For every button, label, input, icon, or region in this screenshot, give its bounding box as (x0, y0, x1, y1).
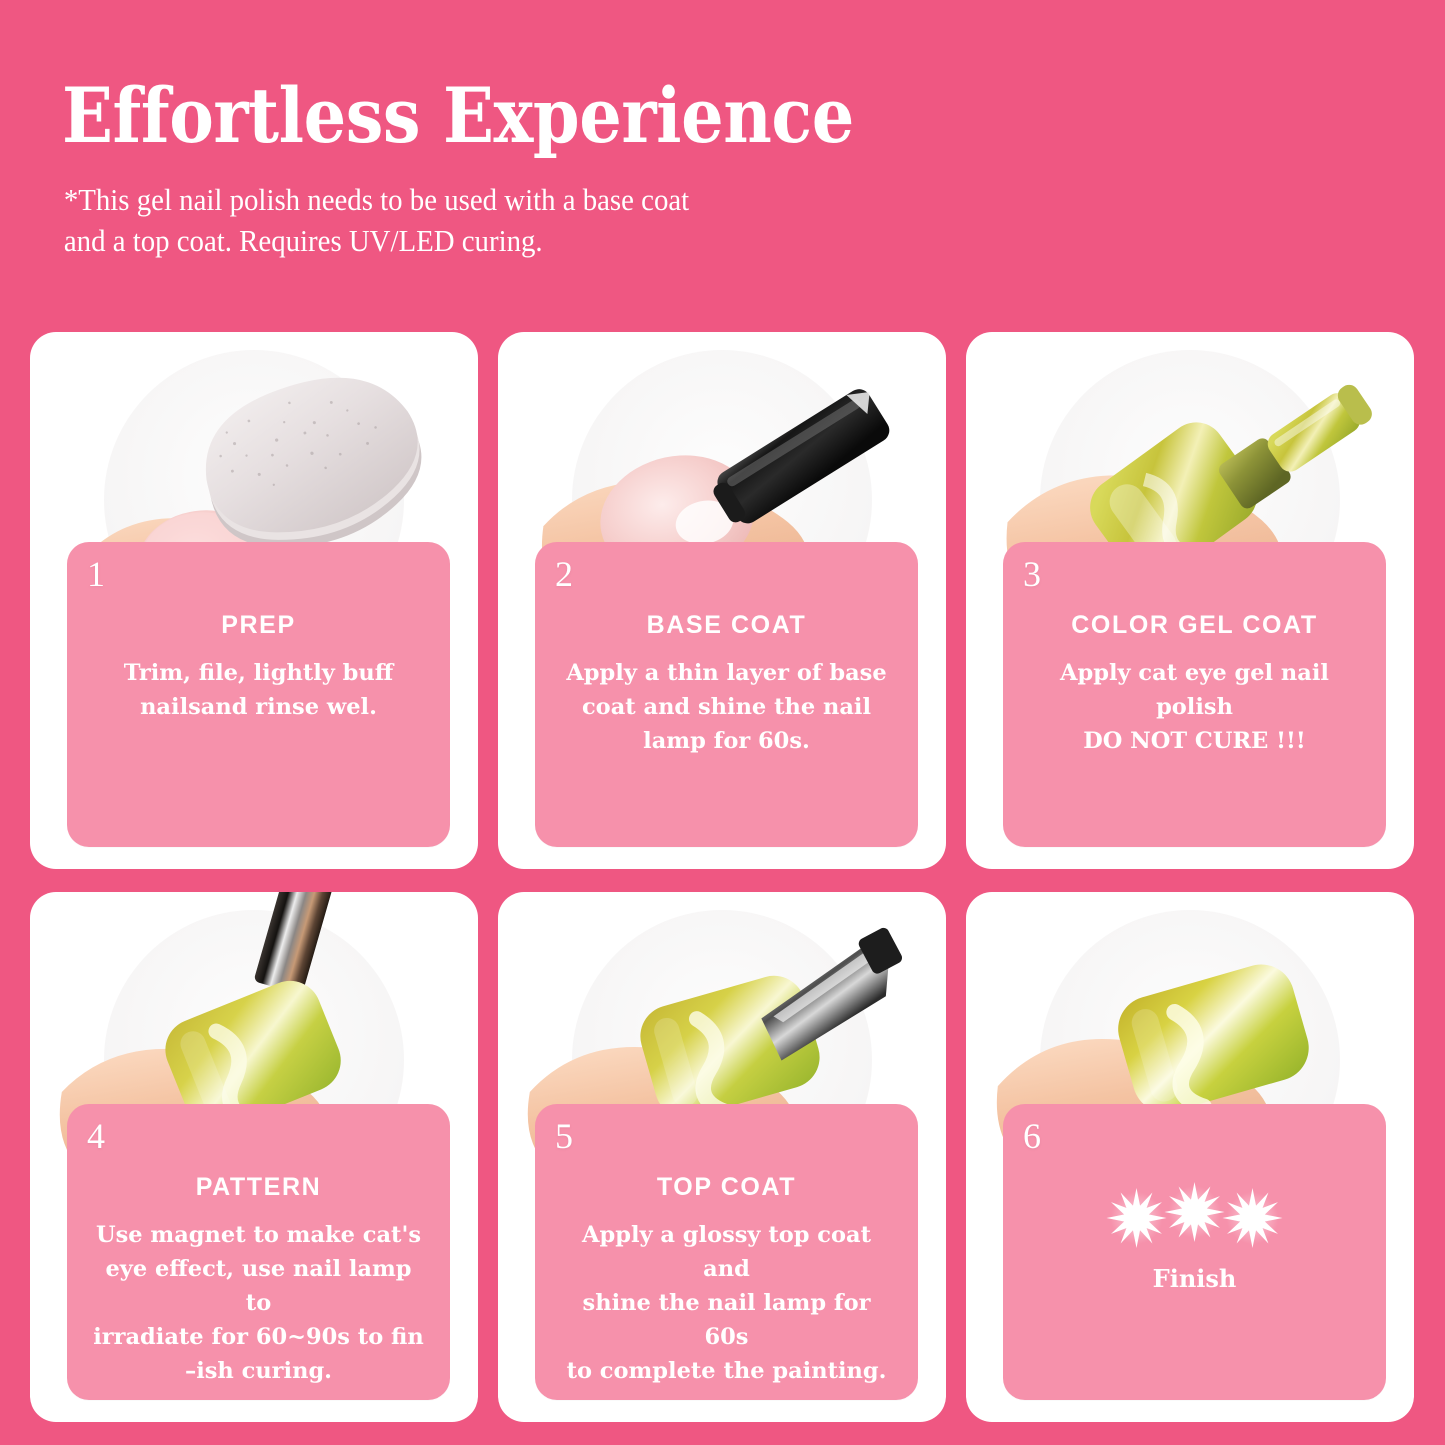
step-heading: COLOR GEL COAT (1017, 612, 1372, 640)
step-2-panel: 2 BASE COAT Apply a thin layer of base c… (535, 542, 918, 847)
step-heading: PATTERN (81, 1174, 436, 1202)
step-heading: TOP COAT (549, 1174, 904, 1202)
sparkle-icon (1017, 1178, 1372, 1250)
step-number: 6 (1023, 1118, 1041, 1154)
step-card-2: 2 BASE COAT Apply a thin layer of base c… (498, 332, 946, 869)
step-number: 4 (87, 1118, 105, 1154)
step-card-6: 6 (966, 892, 1414, 1422)
step-5-panel: 5 TOP COAT Apply a glossy top coat and s… (535, 1104, 918, 1400)
step-heading: PREP (81, 612, 436, 640)
step-3-panel: 3 COLOR GEL COAT Apply cat eye gel nail … (1003, 542, 1386, 847)
sparkle-group (1017, 1178, 1372, 1250)
page-title: Effortless Experience (62, 78, 1244, 154)
step-card-4: 4 PATTERN Use magnet to make cat's eye e… (30, 892, 478, 1422)
step-6-panel: 6 (1003, 1104, 1386, 1400)
step-body: Apply a thin layer of base coat and shin… (549, 656, 904, 759)
step-body: Apply a glossy top coat and shine the na… (549, 1218, 904, 1389)
step-heading: BASE COAT (549, 612, 904, 640)
step-card-1: 1 PREP Trim, file, lightly buff nailsand… (30, 332, 478, 869)
step-number: 2 (555, 556, 573, 592)
header: Effortless Experience *This gel nail pol… (62, 78, 1405, 262)
infographic-page: Effortless Experience *This gel nail pol… (0, 0, 1445, 1445)
page-subtitle: *This gel nail polish needs to be used w… (62, 180, 1311, 262)
step-number: 3 (1023, 556, 1041, 592)
step-number: 5 (555, 1118, 573, 1154)
step-4-panel: 4 PATTERN Use magnet to make cat's eye e… (67, 1104, 450, 1400)
step-card-5: 5 TOP COAT Apply a glossy top coat and s… (498, 892, 946, 1422)
step-body: Finish (1017, 1264, 1372, 1293)
step-body: Trim, file, lightly buff nailsand rinse … (81, 656, 436, 724)
steps-grid: 1 PREP Trim, file, lightly buff nailsand… (30, 332, 1415, 1422)
step-body: Apply cat eye gel nail polish DO NOT CUR… (1017, 656, 1372, 759)
step-number: 1 (87, 556, 105, 592)
step-card-3: 3 COLOR GEL COAT Apply cat eye gel nail … (966, 332, 1414, 869)
step-1-panel: 1 PREP Trim, file, lightly buff nailsand… (67, 542, 450, 847)
step-body: Use magnet to make cat's eye effect, use… (81, 1218, 436, 1389)
